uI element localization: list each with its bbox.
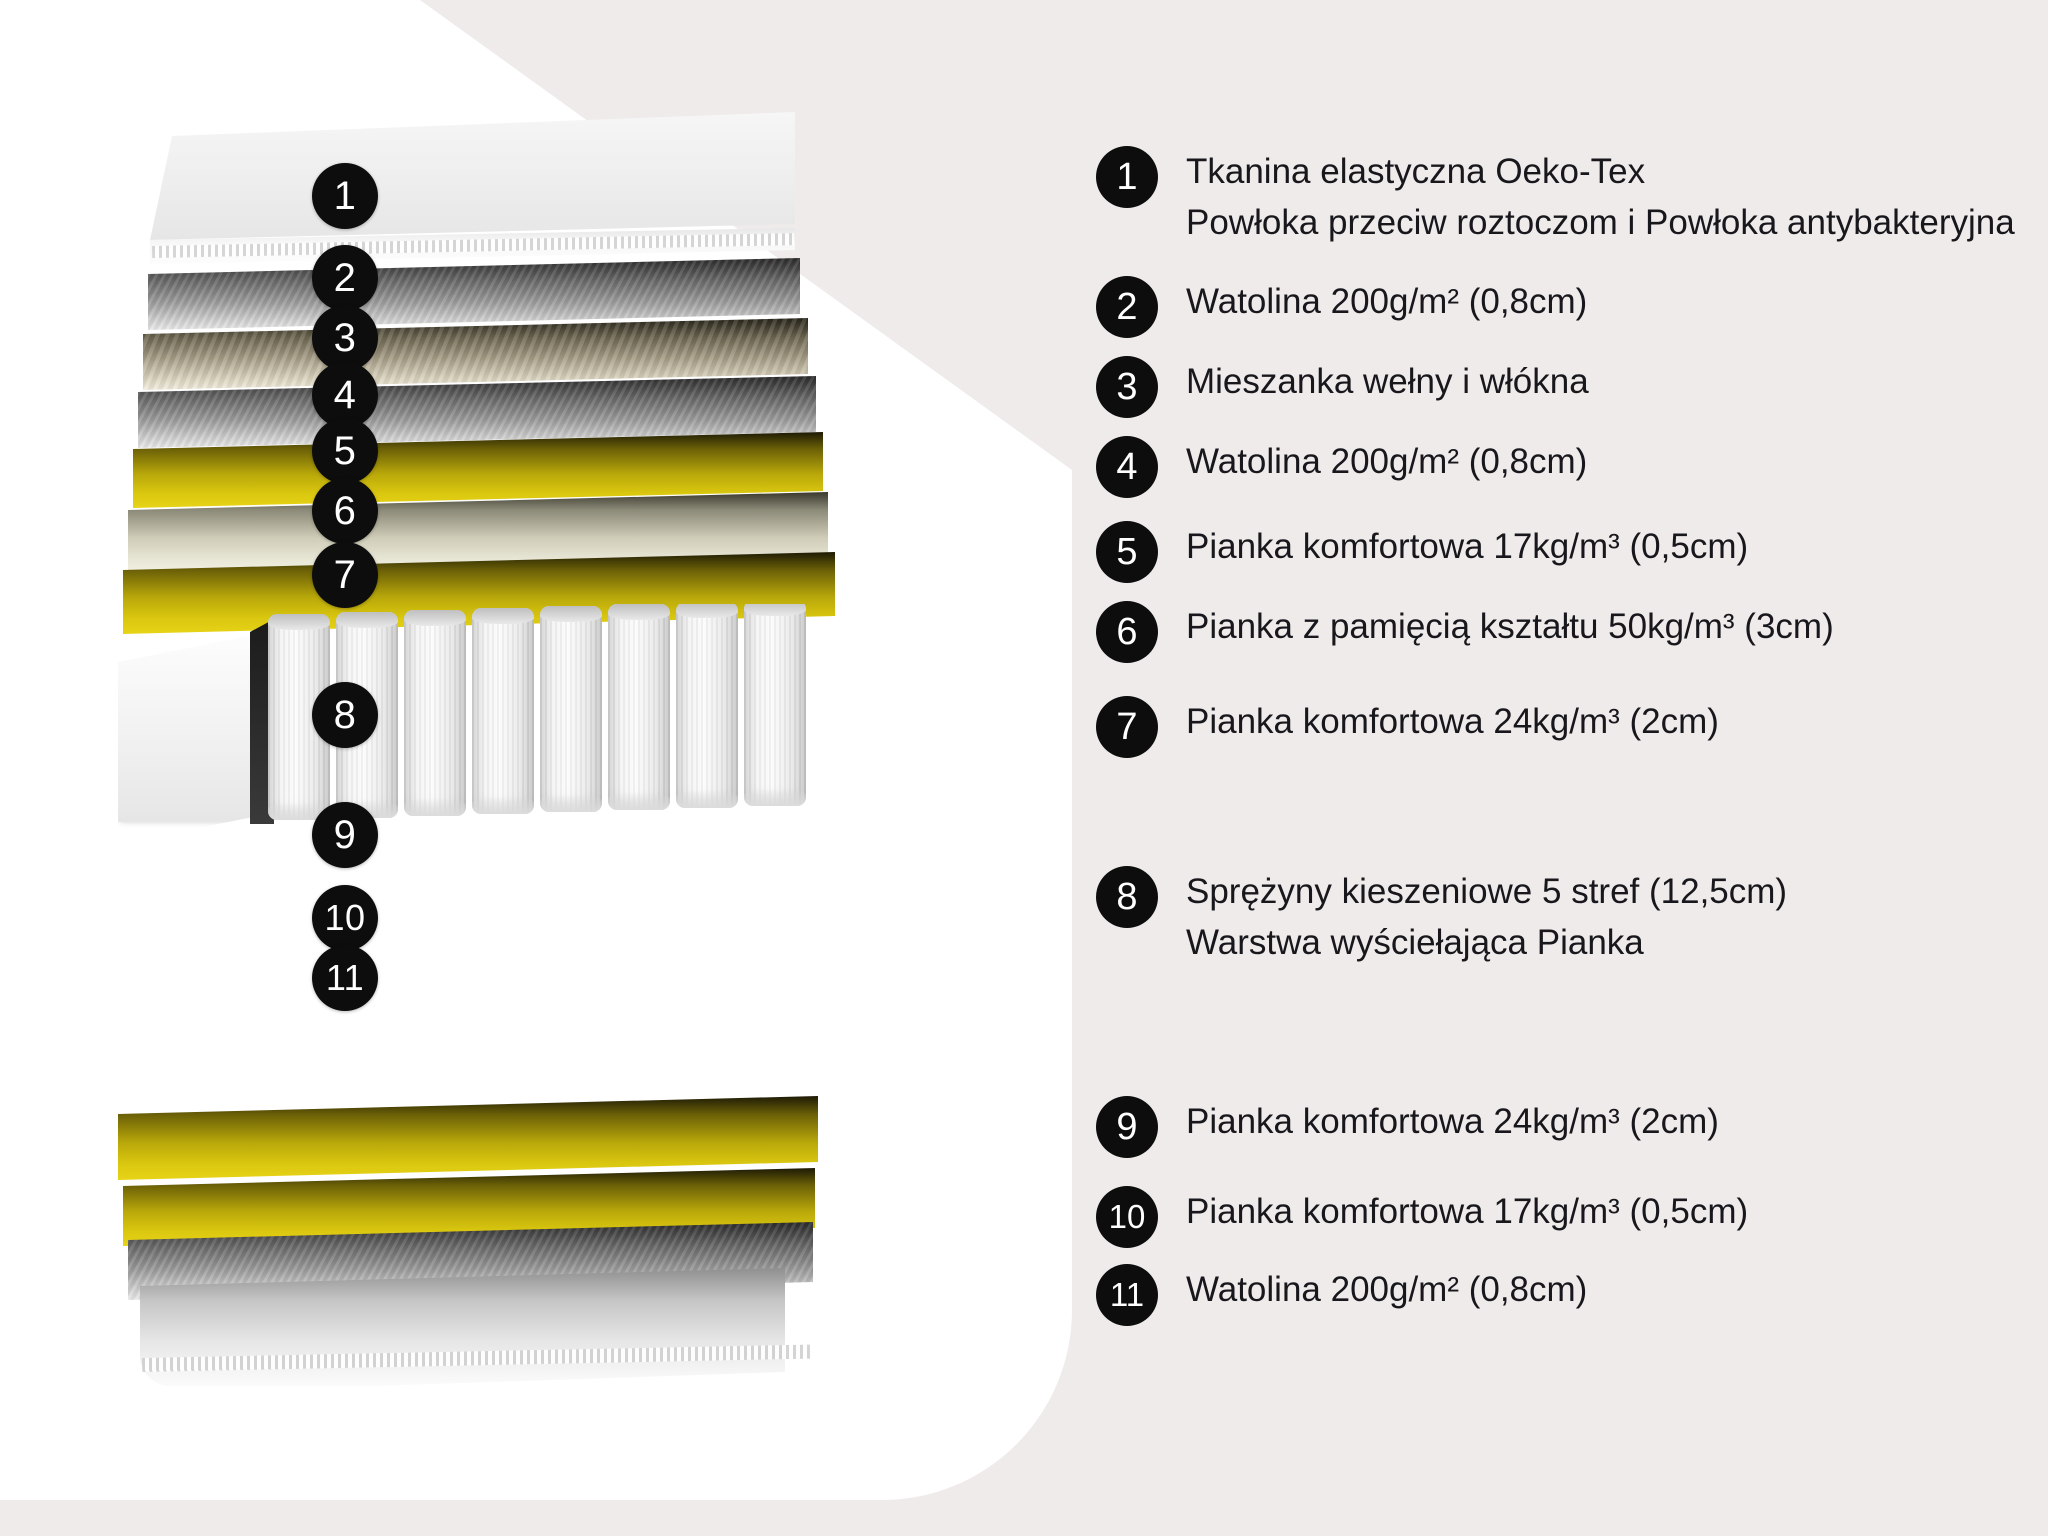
- legend-label-6-line1: Pianka z pamięcią kształtu 50kg/m³ (3cm): [1186, 601, 1834, 652]
- legend-item-4[interactable]: 4 Watolina 200g/m² (0,8cm): [1096, 436, 1587, 498]
- legend-label-1: Tkanina elastyczna Oeko-Tex Powłoka prze…: [1186, 146, 2015, 248]
- legend-label-9: Pianka komfortowa 24kg/m³ (2cm): [1186, 1096, 1719, 1147]
- legend-label-2: Watolina 200g/m² (0,8cm): [1186, 276, 1587, 327]
- pocket-coil: [608, 604, 670, 810]
- layer-pocket-spring-block: [118, 604, 818, 826]
- legend-item-7[interactable]: 7 Pianka komfortowa 24kg/m³ (2cm): [1096, 696, 1719, 758]
- legend-label-1-line2: Powłoka przeciw roztoczom i Powłoka anty…: [1186, 197, 2015, 248]
- legend-label-7-line1: Pianka komfortowa 24kg/m³ (2cm): [1186, 696, 1719, 747]
- legend-label-11-line1: Watolina 200g/m² (0,8cm): [1186, 1264, 1587, 1315]
- legend-label-6: Pianka z pamięcią kształtu 50kg/m³ (3cm): [1186, 601, 1834, 652]
- legend-badge-1: 1: [1096, 146, 1158, 208]
- legend-badge-3: 3: [1096, 356, 1158, 418]
- legend-label-7: Pianka komfortowa 24kg/m³ (2cm): [1186, 696, 1719, 747]
- legend-label-5: Pianka komfortowa 17kg/m³ (0,5cm): [1186, 521, 1748, 572]
- legend-item-2[interactable]: 2 Watolina 200g/m² (0,8cm): [1096, 276, 1587, 338]
- legend-item-1[interactable]: 1 Tkanina elastyczna Oeko-Tex Powłoka pr…: [1096, 146, 2015, 248]
- legend-badge-6: 6: [1096, 601, 1158, 663]
- diagram-badge-7[interactable]: 7: [312, 542, 378, 608]
- diagram-badge-2[interactable]: 2: [312, 245, 378, 311]
- legend-badge-11: 11: [1096, 1264, 1158, 1326]
- diagram-badge-10[interactable]: 10: [312, 885, 378, 951]
- pocket-coil: [744, 604, 806, 806]
- legend-item-5[interactable]: 5 Pianka komfortowa 17kg/m³ (0,5cm): [1096, 521, 1748, 583]
- legend-item-3[interactable]: 3 Mieszanka wełny i włókna: [1096, 356, 1589, 418]
- legend-label-11: Watolina 200g/m² (0,8cm): [1186, 1264, 1587, 1315]
- legend-item-8[interactable]: 8 Sprężyny kieszeniowe 5 stref (12,5cm) …: [1096, 866, 1787, 968]
- spring-foam-edge-support: [118, 634, 256, 822]
- legend-badge-4: 4: [1096, 436, 1158, 498]
- layer-cover-top: [150, 112, 795, 240]
- legend-label-3: Mieszanka wełny i włókna: [1186, 356, 1589, 407]
- legend-label-5-line1: Pianka komfortowa 17kg/m³ (0,5cm): [1186, 521, 1748, 572]
- infographic-canvas: 1 2 3 4 5 6 7 8 9 10 11 1 Tkanina elasty…: [0, 0, 2048, 1536]
- pocket-coil: [404, 610, 466, 816]
- legend-badge-5: 5: [1096, 521, 1158, 583]
- legend-label-1-line1: Tkanina elastyczna Oeko-Tex: [1186, 146, 2015, 197]
- legend-label-2-line1: Watolina 200g/m² (0,8cm): [1186, 276, 1587, 327]
- legend-label-8-line1: Sprężyny kieszeniowe 5 stref (12,5cm): [1186, 866, 1787, 917]
- diagram-badge-1[interactable]: 1: [312, 163, 378, 229]
- legend-label-4-line1: Watolina 200g/m² (0,8cm): [1186, 436, 1587, 487]
- mattress-cutaway: [0, 0, 1072, 1536]
- legend-item-10[interactable]: 10 Pianka komfortowa 17kg/m³ (0,5cm): [1096, 1186, 1748, 1248]
- legend-badge-8: 8: [1096, 866, 1158, 928]
- legend-badge-2: 2: [1096, 276, 1158, 338]
- diagram-badge-9[interactable]: 9: [312, 802, 378, 868]
- legend-label-8: Sprężyny kieszeniowe 5 stref (12,5cm) Wa…: [1186, 866, 1787, 968]
- diagram-badge-8[interactable]: 8: [312, 682, 378, 748]
- layer-comfort-foam-24-lower: [118, 1096, 818, 1180]
- legend-badge-7: 7: [1096, 696, 1158, 758]
- legend-label-3-line1: Mieszanka wełny i włókna: [1186, 356, 1589, 407]
- legend-badge-9: 9: [1096, 1096, 1158, 1158]
- legend-label-10-line1: Pianka komfortowa 17kg/m³ (0,5cm): [1186, 1186, 1748, 1237]
- legend-item-6[interactable]: 6 Pianka z pamięcią kształtu 50kg/m³ (3c…: [1096, 601, 1834, 663]
- pocket-coil: [540, 606, 602, 812]
- legend-label-8-line2: Warstwa wyściełająca Pianka: [1186, 917, 1787, 968]
- legend-item-11[interactable]: 11 Watolina 200g/m² (0,8cm): [1096, 1264, 1587, 1326]
- diagram-badge-5[interactable]: 5: [312, 418, 378, 484]
- legend-label-10: Pianka komfortowa 17kg/m³ (0,5cm): [1186, 1186, 1748, 1237]
- legend-badge-10: 10: [1096, 1186, 1158, 1248]
- legend-label-9-line1: Pianka komfortowa 24kg/m³ (2cm): [1186, 1096, 1719, 1147]
- pocket-coil: [472, 608, 534, 814]
- diagram-badge-11[interactable]: 11: [312, 945, 378, 1011]
- layer-wadding-upper: [148, 258, 800, 330]
- pocket-coil: [676, 604, 738, 808]
- diagram-badge-6[interactable]: 6: [312, 478, 378, 544]
- legend-label-4: Watolina 200g/m² (0,8cm): [1186, 436, 1587, 487]
- legend-item-9[interactable]: 9 Pianka komfortowa 24kg/m³ (2cm): [1096, 1096, 1719, 1158]
